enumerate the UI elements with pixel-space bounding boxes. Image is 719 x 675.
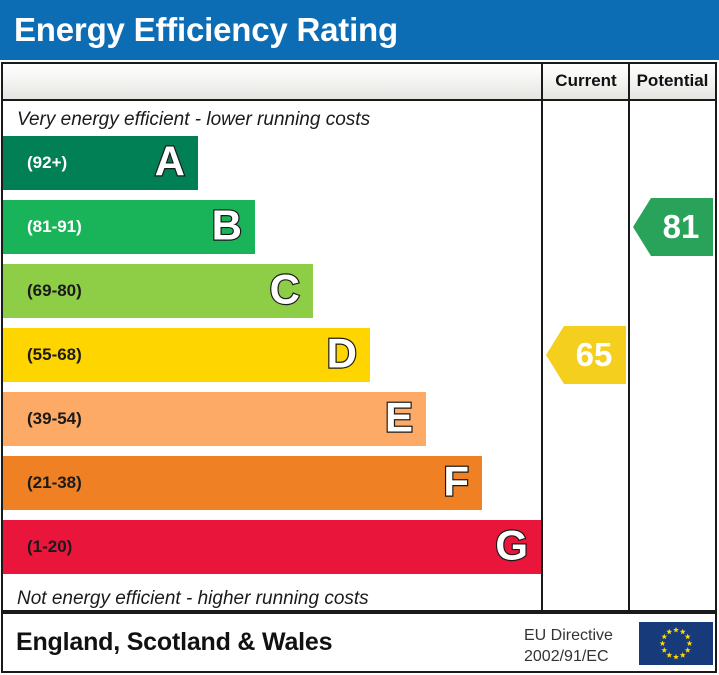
column-divider-potential bbox=[628, 64, 630, 610]
current-rating-value: 65 bbox=[560, 336, 613, 374]
caption-very-efficient: Very energy efficient - lower running co… bbox=[17, 109, 370, 131]
band-range-label-e: (39-54) bbox=[27, 409, 82, 429]
band-range-label-f: (21-38) bbox=[27, 473, 82, 493]
energy-efficiency-rating-chart: Energy Efficiency Rating Current Potenti… bbox=[0, 0, 719, 675]
rating-band-g: (1-20)G bbox=[3, 520, 541, 574]
eu-flag-icon bbox=[639, 622, 713, 665]
band-letter-f: F bbox=[443, 460, 469, 502]
band-letter-e: E bbox=[385, 396, 413, 438]
band-range-label-c: (69-80) bbox=[27, 281, 82, 301]
potential-rating-marker: 81 bbox=[633, 198, 713, 256]
rating-table: Current Potential Very energy efficient … bbox=[1, 62, 717, 612]
table-header-row: Current Potential bbox=[3, 64, 715, 101]
caption-not-efficient: Not energy efficient - higher running co… bbox=[17, 588, 369, 610]
rating-band-a: (92+)A bbox=[3, 136, 198, 190]
band-letter-c: C bbox=[270, 268, 300, 310]
footer-directive: EU Directive 2002/91/EC bbox=[524, 625, 613, 667]
band-range-label-b: (81-91) bbox=[27, 217, 82, 237]
column-divider-current bbox=[541, 64, 543, 610]
band-letter-a: A bbox=[155, 140, 185, 182]
current-rating-marker: 65 bbox=[546, 326, 626, 384]
page-title: Energy Efficiency Rating bbox=[14, 6, 398, 54]
footer-region-label: England, Scotland & Wales bbox=[16, 628, 332, 657]
rating-band-e: (39-54)E bbox=[3, 392, 426, 446]
column-header-potential: Potential bbox=[630, 71, 715, 91]
band-range-label-d: (55-68) bbox=[27, 345, 82, 365]
column-header-current: Current bbox=[543, 71, 629, 91]
band-letter-b: B bbox=[212, 204, 242, 246]
footer-directive-line2: 2002/91/EC bbox=[524, 646, 613, 667]
rating-band-f: (21-38)F bbox=[3, 456, 482, 510]
rating-band-b: (81-91)B bbox=[3, 200, 255, 254]
rating-bands: (92+)A(81-91)B(69-80)C(55-68)D(39-54)E(2… bbox=[3, 136, 541, 586]
footer-directive-line1: EU Directive bbox=[524, 625, 613, 646]
band-letter-g: G bbox=[495, 524, 528, 566]
band-range-label-g: (1-20) bbox=[27, 537, 72, 557]
rating-band-d: (55-68)D bbox=[3, 328, 370, 382]
band-range-label-a: (92+) bbox=[27, 153, 67, 173]
band-letter-d: D bbox=[327, 332, 357, 374]
rating-band-c: (69-80)C bbox=[3, 264, 313, 318]
footer-bar: England, Scotland & Wales EU Directive 2… bbox=[1, 612, 717, 673]
chart-title-bar: Energy Efficiency Rating bbox=[0, 0, 719, 60]
potential-rating-value: 81 bbox=[647, 208, 700, 246]
